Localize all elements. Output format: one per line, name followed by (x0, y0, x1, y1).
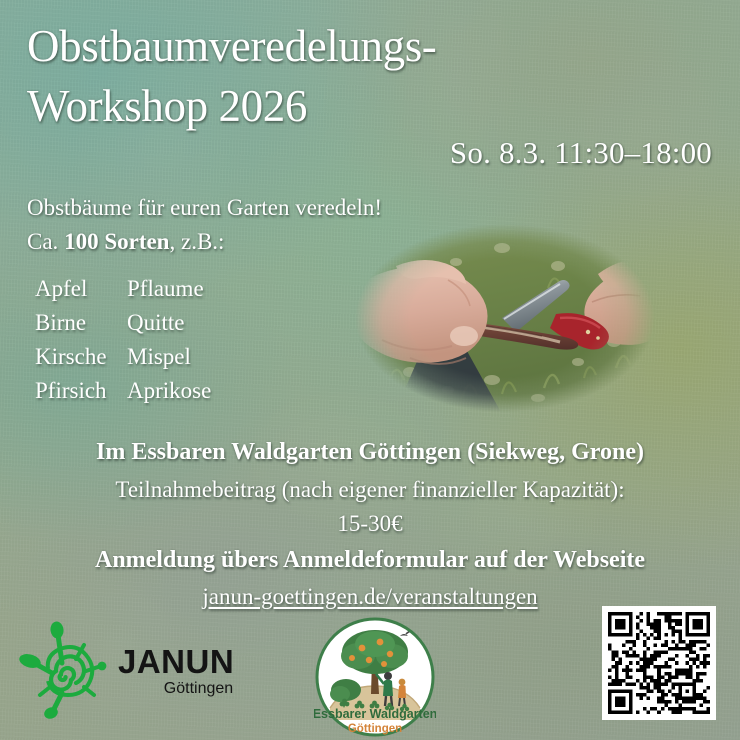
fruit-item: Birne (35, 310, 127, 336)
venue-text: Im Essbaren Waldgarten Göttingen (Siekwe… (0, 440, 740, 466)
fruit-item: Pfirsich (35, 378, 127, 404)
janun-name: JANUN (118, 645, 234, 678)
poster-title-line-2: Workshop 2026 (27, 82, 307, 131)
fruit-item: Mispel (127, 344, 211, 370)
janun-city: Göttingen (164, 680, 233, 698)
waldgarten-line-1: Essbarer Waldgarten (314, 707, 436, 721)
grafting-photo (352, 222, 658, 414)
fruit-variety-list: Apfel Pflaume Birne Quitte Kirsche Mispe… (35, 276, 211, 404)
fee-value: 15-30€ (0, 512, 740, 537)
event-date-time: So. 8.3. 11:30–18:00 (450, 136, 712, 169)
janun-wordmark: JANUN Göttingen (118, 645, 234, 698)
fruit-item: Apfel (35, 276, 127, 302)
poster-canvas: Obstbaumveredelungs- Workshop 2026 So. 8… (0, 0, 740, 740)
fruit-item: Quitte (127, 310, 211, 336)
fee-label: Teilnahmebeitrag (nach eigener finanziel… (0, 478, 740, 503)
janun-spiral-icon (18, 621, 114, 721)
intro-text: Obstbäume für euren Garten veredeln! (27, 196, 382, 221)
waldgarten-line-2: Göttingen (348, 723, 402, 735)
varieties-heading: Ca. 100 Sorten, z.B.: (27, 230, 224, 255)
varieties-emphasis: 100 Sorten (64, 229, 169, 254)
fruit-item: Aprikose (127, 378, 211, 404)
varieties-prefix: Ca. (27, 229, 64, 254)
varieties-suffix: , z.B.: (169, 229, 224, 254)
signup-instruction: Anmeldung übers Anmeldeformular auf der … (0, 548, 740, 574)
essbarer-waldgarten-logo: Essbarer Waldgarten Göttingen (314, 616, 436, 738)
fruit-item: Kirsche (35, 344, 127, 370)
qr-code[interactable] (602, 606, 716, 720)
janun-logo: JANUN Göttingen (18, 618, 248, 724)
poster-title-line-1: Obstbaumveredelungs- (27, 22, 436, 71)
fruit-item: Pflaume (127, 276, 211, 302)
